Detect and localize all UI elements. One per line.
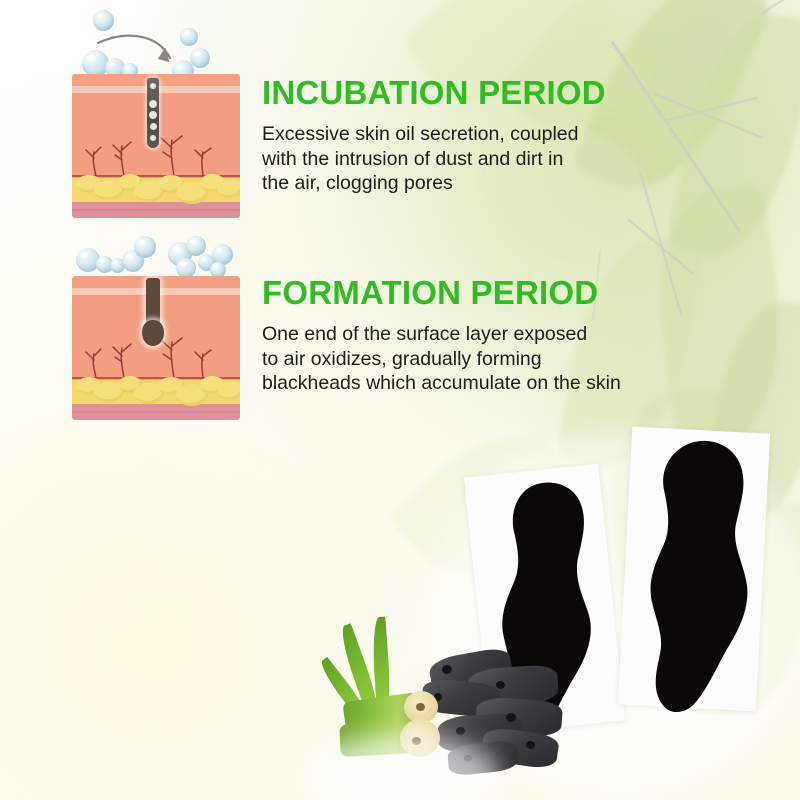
- body-line: with the intrusion of dust and dirt in: [262, 147, 657, 172]
- skin-block-incubation: [72, 74, 240, 218]
- body-line: the air, clogging pores: [262, 171, 657, 196]
- blackhead-plug-bulb: [142, 320, 164, 346]
- body-line: to air oxidizes, gradually forming: [262, 347, 692, 372]
- ingredient-cluster: [330, 615, 560, 800]
- skin-block-formation: [72, 276, 240, 420]
- body-incubation: Excessive skin oil secretion, coupled wi…: [262, 122, 657, 196]
- flow-arrow-icon: [96, 26, 196, 71]
- nose-strip-right: [636, 438, 768, 718]
- heading-formation: FORMATION PERIOD: [262, 276, 598, 309]
- clogged-pore: [147, 78, 159, 148]
- body-line: blackheads which accumulate on the skin: [262, 371, 692, 396]
- heading-incubation: INCUBATION PERIOD: [262, 76, 606, 109]
- body-line: One end of the surface layer exposed: [262, 322, 692, 347]
- body-line: Excessive skin oil secretion, coupled: [262, 122, 657, 147]
- infographic-canvas: INCUBATION PERIOD Excessive skin oil sec…: [0, 0, 800, 800]
- diagram-incubation: [0, 0, 260, 230]
- body-formation: One end of the surface layer exposed to …: [262, 322, 692, 396]
- diagram-formation: [0, 230, 260, 430]
